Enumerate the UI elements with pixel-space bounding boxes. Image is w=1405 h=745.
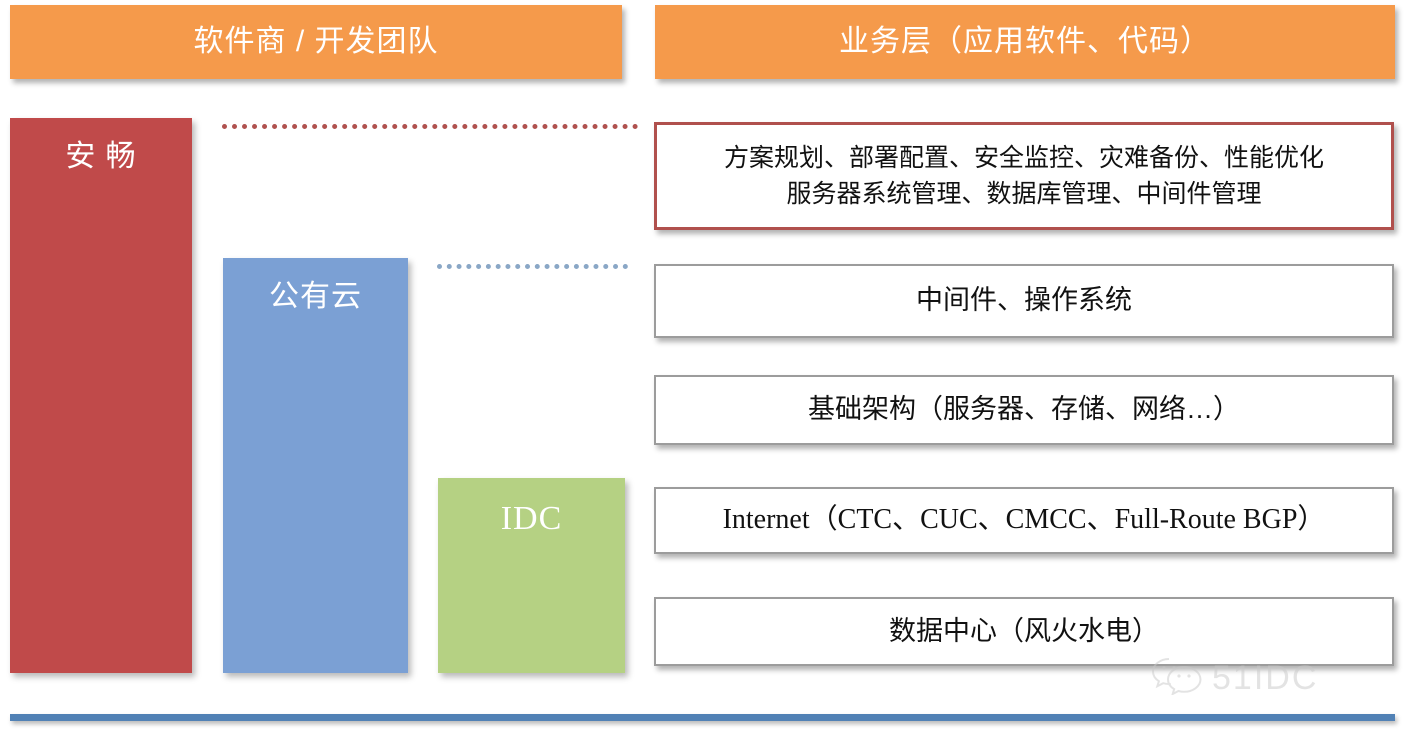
header-software-vendor-label: 软件商 / 开发团队	[193, 27, 438, 57]
header-business-layer: 业务层（应用软件、代码）	[655, 5, 1395, 79]
provider-bar-public-cloud: 公有云	[223, 258, 408, 673]
provider-bar-idc: IDC	[438, 478, 625, 673]
red-dotted-connector	[222, 124, 638, 129]
layer-line: 方案规划、部署配置、安全监控、灾难备份、性能优化	[724, 140, 1324, 176]
layer-line: 中间件、操作系统	[916, 281, 1132, 320]
layer-line: 服务器系统管理、数据库管理、中间件管理	[786, 176, 1261, 212]
provider-bar-anchang: 安 畅	[10, 118, 192, 673]
blue-dotted-connector	[437, 264, 628, 269]
layer-box-infrastructure: 基础架构（服务器、存储、网络…）	[654, 375, 1394, 445]
layer-box-middleware-os: 中间件、操作系统	[654, 264, 1394, 338]
layer-line: 基础架构（服务器、存储、网络…）	[808, 390, 1240, 429]
header-business-layer-label: 业务层（应用软件、代码）	[839, 27, 1211, 57]
layer-line: 数据中心（风火水电）	[889, 612, 1159, 651]
layer-box-service-management: 方案规划、部署配置、安全监控、灾难备份、性能优化 服务器系统管理、数据库管理、中…	[654, 122, 1394, 230]
layer-line: Internet（CTC、CUC、CMCC、Full-Route BGP）	[723, 500, 1326, 541]
header-software-vendor: 软件商 / 开发团队	[10, 5, 622, 79]
slide-canvas: 软件商 / 开发团队 业务层（应用软件、代码） 安 畅 公有云 IDC 方案规划…	[0, 0, 1405, 745]
layer-box-datacenter: 数据中心（风火水电）	[654, 597, 1394, 666]
bottom-divider	[10, 714, 1395, 721]
provider-bar-public-cloud-label: 公有云	[269, 282, 362, 673]
layer-box-internet: Internet（CTC、CUC、CMCC、Full-Route BGP）	[654, 487, 1394, 554]
provider-bar-anchang-label: 安 畅	[65, 142, 136, 673]
provider-bar-idc-label: IDC	[501, 502, 563, 673]
